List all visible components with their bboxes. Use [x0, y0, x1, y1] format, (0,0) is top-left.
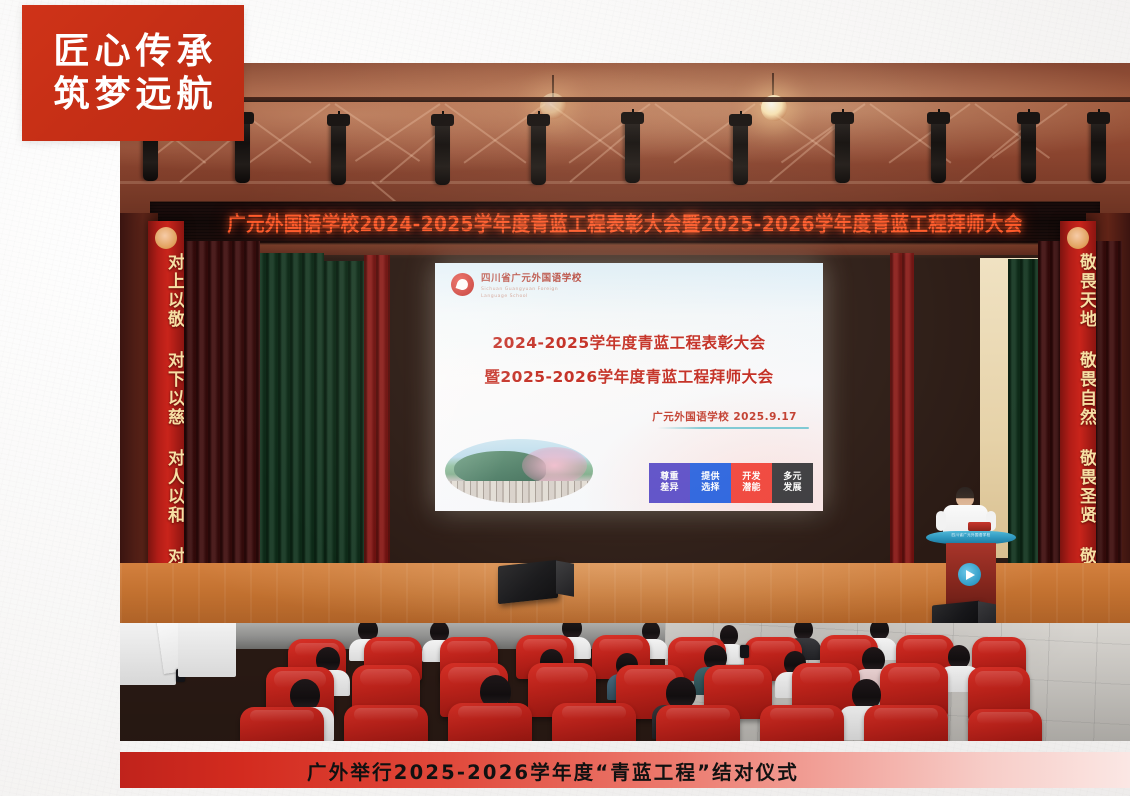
- slide-campus-photo: [445, 439, 593, 503]
- school-logo-icon: [451, 273, 474, 296]
- wing-curtain-green-left: [254, 253, 324, 583]
- slide-value-box: 多元 发展: [772, 463, 813, 503]
- slide-box-line2: 差异: [660, 483, 679, 494]
- stage-light: [733, 123, 748, 185]
- main-curtain-left-inner: [364, 255, 390, 581]
- speaker-arm-left: [936, 511, 946, 531]
- seat: [448, 703, 532, 741]
- stage-light: [531, 123, 546, 185]
- slogan-line-1: 匠心传承: [48, 31, 217, 72]
- seat: [552, 703, 636, 741]
- slide-logo-en-1: Sichuan Guangyuan Foreign: [481, 287, 582, 294]
- pillar-right: 敬畏天地 敬畏自然 敬畏圣贤 敬畏规则 敬畏孩子: [1060, 221, 1096, 621]
- audience-phone: [740, 645, 749, 658]
- slogan-line-2: 筑梦远航: [48, 74, 217, 115]
- pillar-left: 对上以敬 对下以慈 对人以和 对: [148, 221, 184, 621]
- stage-light: [835, 121, 850, 183]
- slogan-badge: 匠心传承 筑梦远航: [22, 5, 244, 141]
- slide-value-box: 尊重 差异: [649, 463, 690, 503]
- stage-light: [435, 123, 450, 185]
- audience-area: [120, 623, 1130, 741]
- slide-value-boxes: 尊重 差异 提供 选择 开发 潜能 多元 发展: [649, 463, 813, 503]
- slide-box-line1: 多元: [783, 472, 802, 483]
- main-curtain-left: [184, 241, 260, 589]
- slide-footer-text: 广元外国语学校 2025.9.17: [652, 409, 797, 424]
- ceiling: [120, 63, 1130, 213]
- slide-title-line1: 2024-2025学年度青蓝工程表彰大会: [435, 331, 823, 353]
- led-banner: 广元外国语学校2024-2025学年度青蓝工程表彰大会暨2025-2026学年度…: [150, 201, 1100, 245]
- pillar-emblem-icon: [155, 227, 177, 249]
- stage-light: [1021, 121, 1036, 183]
- slide-school-logo: 四川省广元外国语学校 Sichuan Guangyuan Foreign Lan…: [451, 273, 582, 301]
- seat: [760, 705, 844, 741]
- podium-laptop: [968, 522, 991, 531]
- stage-light: [931, 121, 946, 183]
- slide-logo-cn: 四川省广元外国语学校: [481, 273, 582, 285]
- slide-photo-blossom: [522, 447, 587, 484]
- slide-value-box: 提供 选择: [690, 463, 731, 503]
- slide-value-box: 开发 潜能: [731, 463, 772, 503]
- stage-monitor-speaker: [498, 560, 558, 604]
- slide-box-line1: 提供: [701, 472, 720, 483]
- seat: [656, 705, 740, 741]
- caption-text: 广外举行2025-2026学年度“青蓝工程”结对仪式: [307, 756, 799, 785]
- stage-light: [625, 121, 640, 183]
- poster-page: 广元外国语学校2024-2025学年度青蓝工程表彰大会暨2025-2026学年度…: [0, 0, 1130, 796]
- seat: [344, 705, 428, 741]
- pillar-emblem-icon: [1067, 227, 1089, 249]
- wing-curtain-green-left2: [324, 261, 368, 583]
- main-curtain-right-inner: [890, 253, 914, 583]
- event-photo: 广元外国语学校2024-2025学年度青蓝工程表彰大会暨2025-2026学年度…: [120, 63, 1130, 741]
- stage-light: [1091, 121, 1106, 183]
- led-banner-text: 广元外国语学校2024-2025学年度青蓝工程表彰大会暨2025-2026学年度…: [227, 208, 1023, 237]
- projection-screen: 四川省广元外国语学校 Sichuan Guangyuan Foreign Lan…: [435, 263, 823, 511]
- stage-light: [331, 123, 346, 185]
- slide-box-line2: 选择: [701, 483, 720, 494]
- slide-box-line2: 发展: [783, 483, 802, 494]
- podium-group: 四川省广元外国语学校: [926, 487, 1016, 607]
- speaker-head: [956, 487, 974, 507]
- seat: [240, 707, 324, 741]
- seat: [864, 705, 948, 741]
- slide-box-line2: 潜能: [742, 483, 761, 494]
- slide-box-line1: 尊重: [660, 472, 679, 483]
- slide-photo-town: [445, 481, 593, 503]
- slide-logo-en-2: Language School: [481, 294, 582, 301]
- seat: [968, 709, 1042, 741]
- podium-nameplate: 四川省广元外国语学校: [926, 533, 1016, 538]
- slide-box-line1: 开发: [742, 472, 761, 483]
- caption-bar: 广外举行2025-2026学年度“青蓝工程”结对仪式: [120, 752, 1130, 788]
- slide-footer-rule: [657, 427, 809, 429]
- slide-title-line2: 暨2025-2026学年度青蓝工程拜师大会: [435, 365, 823, 387]
- podium-emblem-icon: [958, 563, 981, 586]
